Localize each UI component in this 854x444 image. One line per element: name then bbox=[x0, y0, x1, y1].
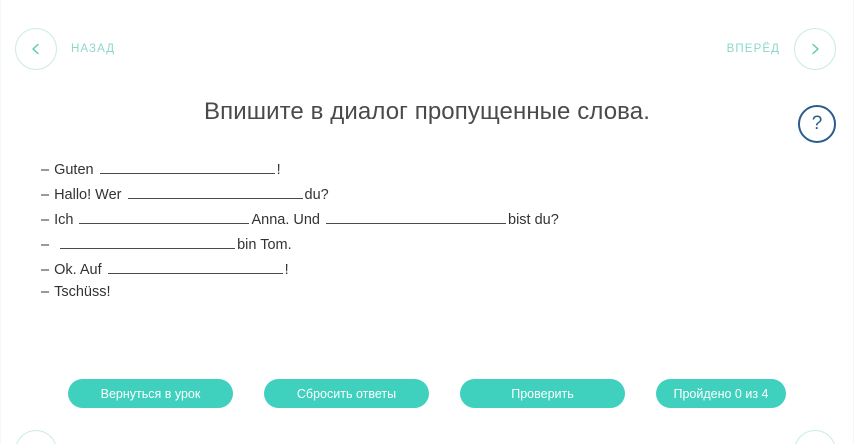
line-dash: – bbox=[41, 162, 49, 178]
nav-forward-button-bottom[interactable] bbox=[794, 430, 836, 444]
action-button-bar: Вернуться в урок Сбросить ответы Провери… bbox=[1, 379, 854, 408]
page-title: Впишите в диалог пропущенные слова. bbox=[1, 98, 853, 126]
help-icon[interactable]: ? bbox=[798, 105, 836, 143]
line-dash: – bbox=[41, 284, 49, 300]
line-text-middle: ! bbox=[285, 262, 289, 278]
back-to-lesson-button[interactable]: Вернуться в урок bbox=[68, 379, 233, 408]
score-badge-button[interactable]: Пройдено 0 из 4 bbox=[656, 379, 786, 408]
line-text-before: Hallo! Wer bbox=[54, 187, 121, 203]
blank-input-6[interactable] bbox=[108, 258, 283, 274]
dialog-line: –Ich Anna. Und bist du? bbox=[41, 208, 801, 230]
blank-input-2[interactable] bbox=[128, 183, 303, 199]
nav-back-label: НАЗАД bbox=[71, 43, 115, 55]
dialog-exercise: –Guten ! –Hallo! Wer du? –Ich Anna. Und … bbox=[41, 158, 801, 305]
reset-answers-button[interactable]: Сбросить ответы bbox=[264, 379, 429, 408]
line-text-middle: ! bbox=[277, 162, 281, 178]
blank-input-1[interactable] bbox=[100, 158, 275, 174]
line-text-before: Ich bbox=[54, 212, 73, 228]
dialog-line: –Guten ! bbox=[41, 158, 801, 180]
dialog-line: –Tschüss! bbox=[41, 283, 801, 302]
chevron-left-icon[interactable] bbox=[15, 28, 57, 70]
line-text-middle: Anna. Und bbox=[251, 212, 320, 228]
line-text-before: Guten bbox=[54, 162, 94, 178]
dialog-line: –Ok. Auf ! bbox=[41, 258, 801, 280]
blank-input-5[interactable] bbox=[60, 233, 235, 249]
line-dash: – bbox=[41, 187, 49, 203]
line-dash: – bbox=[41, 212, 49, 228]
nav-back-button[interactable]: НАЗАД bbox=[15, 28, 115, 70]
dialog-line: –Hallo! Wer du? bbox=[41, 183, 801, 205]
line-text-after: bist du? bbox=[508, 212, 559, 228]
line-dash: – bbox=[41, 237, 49, 253]
nav-forward-button[interactable]: ВПЕРЁД bbox=[727, 28, 836, 70]
blank-input-4[interactable] bbox=[326, 208, 506, 224]
line-text-before: Ok. Auf bbox=[54, 262, 102, 278]
chevron-right-icon[interactable] bbox=[794, 28, 836, 70]
nav-forward-label: ВПЕРЁД bbox=[727, 43, 780, 55]
line-text-middle: bin Tom. bbox=[237, 237, 292, 253]
exercise-page: НАЗАД ВПЕРЁД Впишите в диалог пропущенны… bbox=[0, 0, 854, 444]
line-dash: – bbox=[41, 262, 49, 278]
dialog-line: – bin Tom. bbox=[41, 233, 801, 255]
check-button[interactable]: Проверить bbox=[460, 379, 625, 408]
nav-back-button-bottom[interactable] bbox=[15, 430, 57, 444]
blank-input-3[interactable] bbox=[79, 208, 249, 224]
line-text-before: Tschüss! bbox=[54, 284, 110, 300]
line-text-middle: du? bbox=[305, 187, 329, 203]
